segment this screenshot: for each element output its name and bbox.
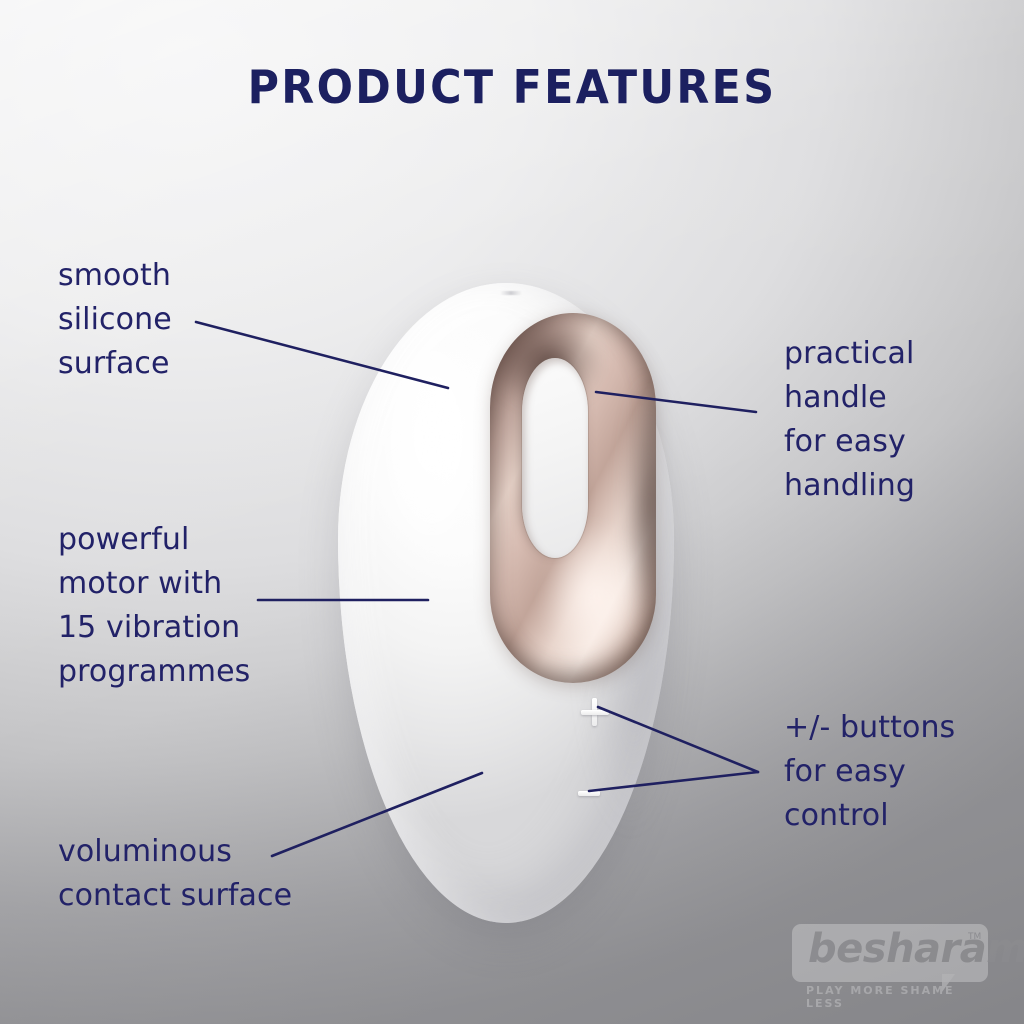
watermark-brand-text: besharam bbox=[808, 926, 1024, 972]
callout-plus-minus-buttons: +/- buttons for easy control bbox=[784, 706, 955, 838]
handle-hole bbox=[522, 358, 588, 558]
callout-practical-handle: practical handle for easy handling bbox=[784, 332, 915, 508]
watermark-trademark-symbol: TM bbox=[968, 932, 981, 942]
plus-button[interactable] bbox=[581, 698, 609, 726]
besharam-watermark-logo: besharam TM PLAY MORE SHAME LESS bbox=[792, 924, 998, 1006]
callout-powerful-motor: powerful motor with 15 vibration program… bbox=[58, 518, 250, 694]
product-features-infographic: PRODUCT FEATURES smooth silicone surface… bbox=[0, 0, 1024, 1024]
minus-button[interactable] bbox=[578, 791, 600, 796]
product-body bbox=[338, 283, 674, 923]
page-title: PRODUCT FEATURES bbox=[36, 60, 988, 114]
top-seam-mark bbox=[500, 291, 522, 295]
callout-smooth-silicone-surface: smooth silicone surface bbox=[58, 254, 172, 386]
watermark-tagline: PLAY MORE SHAME LESS bbox=[806, 984, 998, 1010]
callout-voluminous-contact-surface: voluminous contact surface bbox=[58, 830, 292, 918]
product-image bbox=[330, 275, 680, 925]
